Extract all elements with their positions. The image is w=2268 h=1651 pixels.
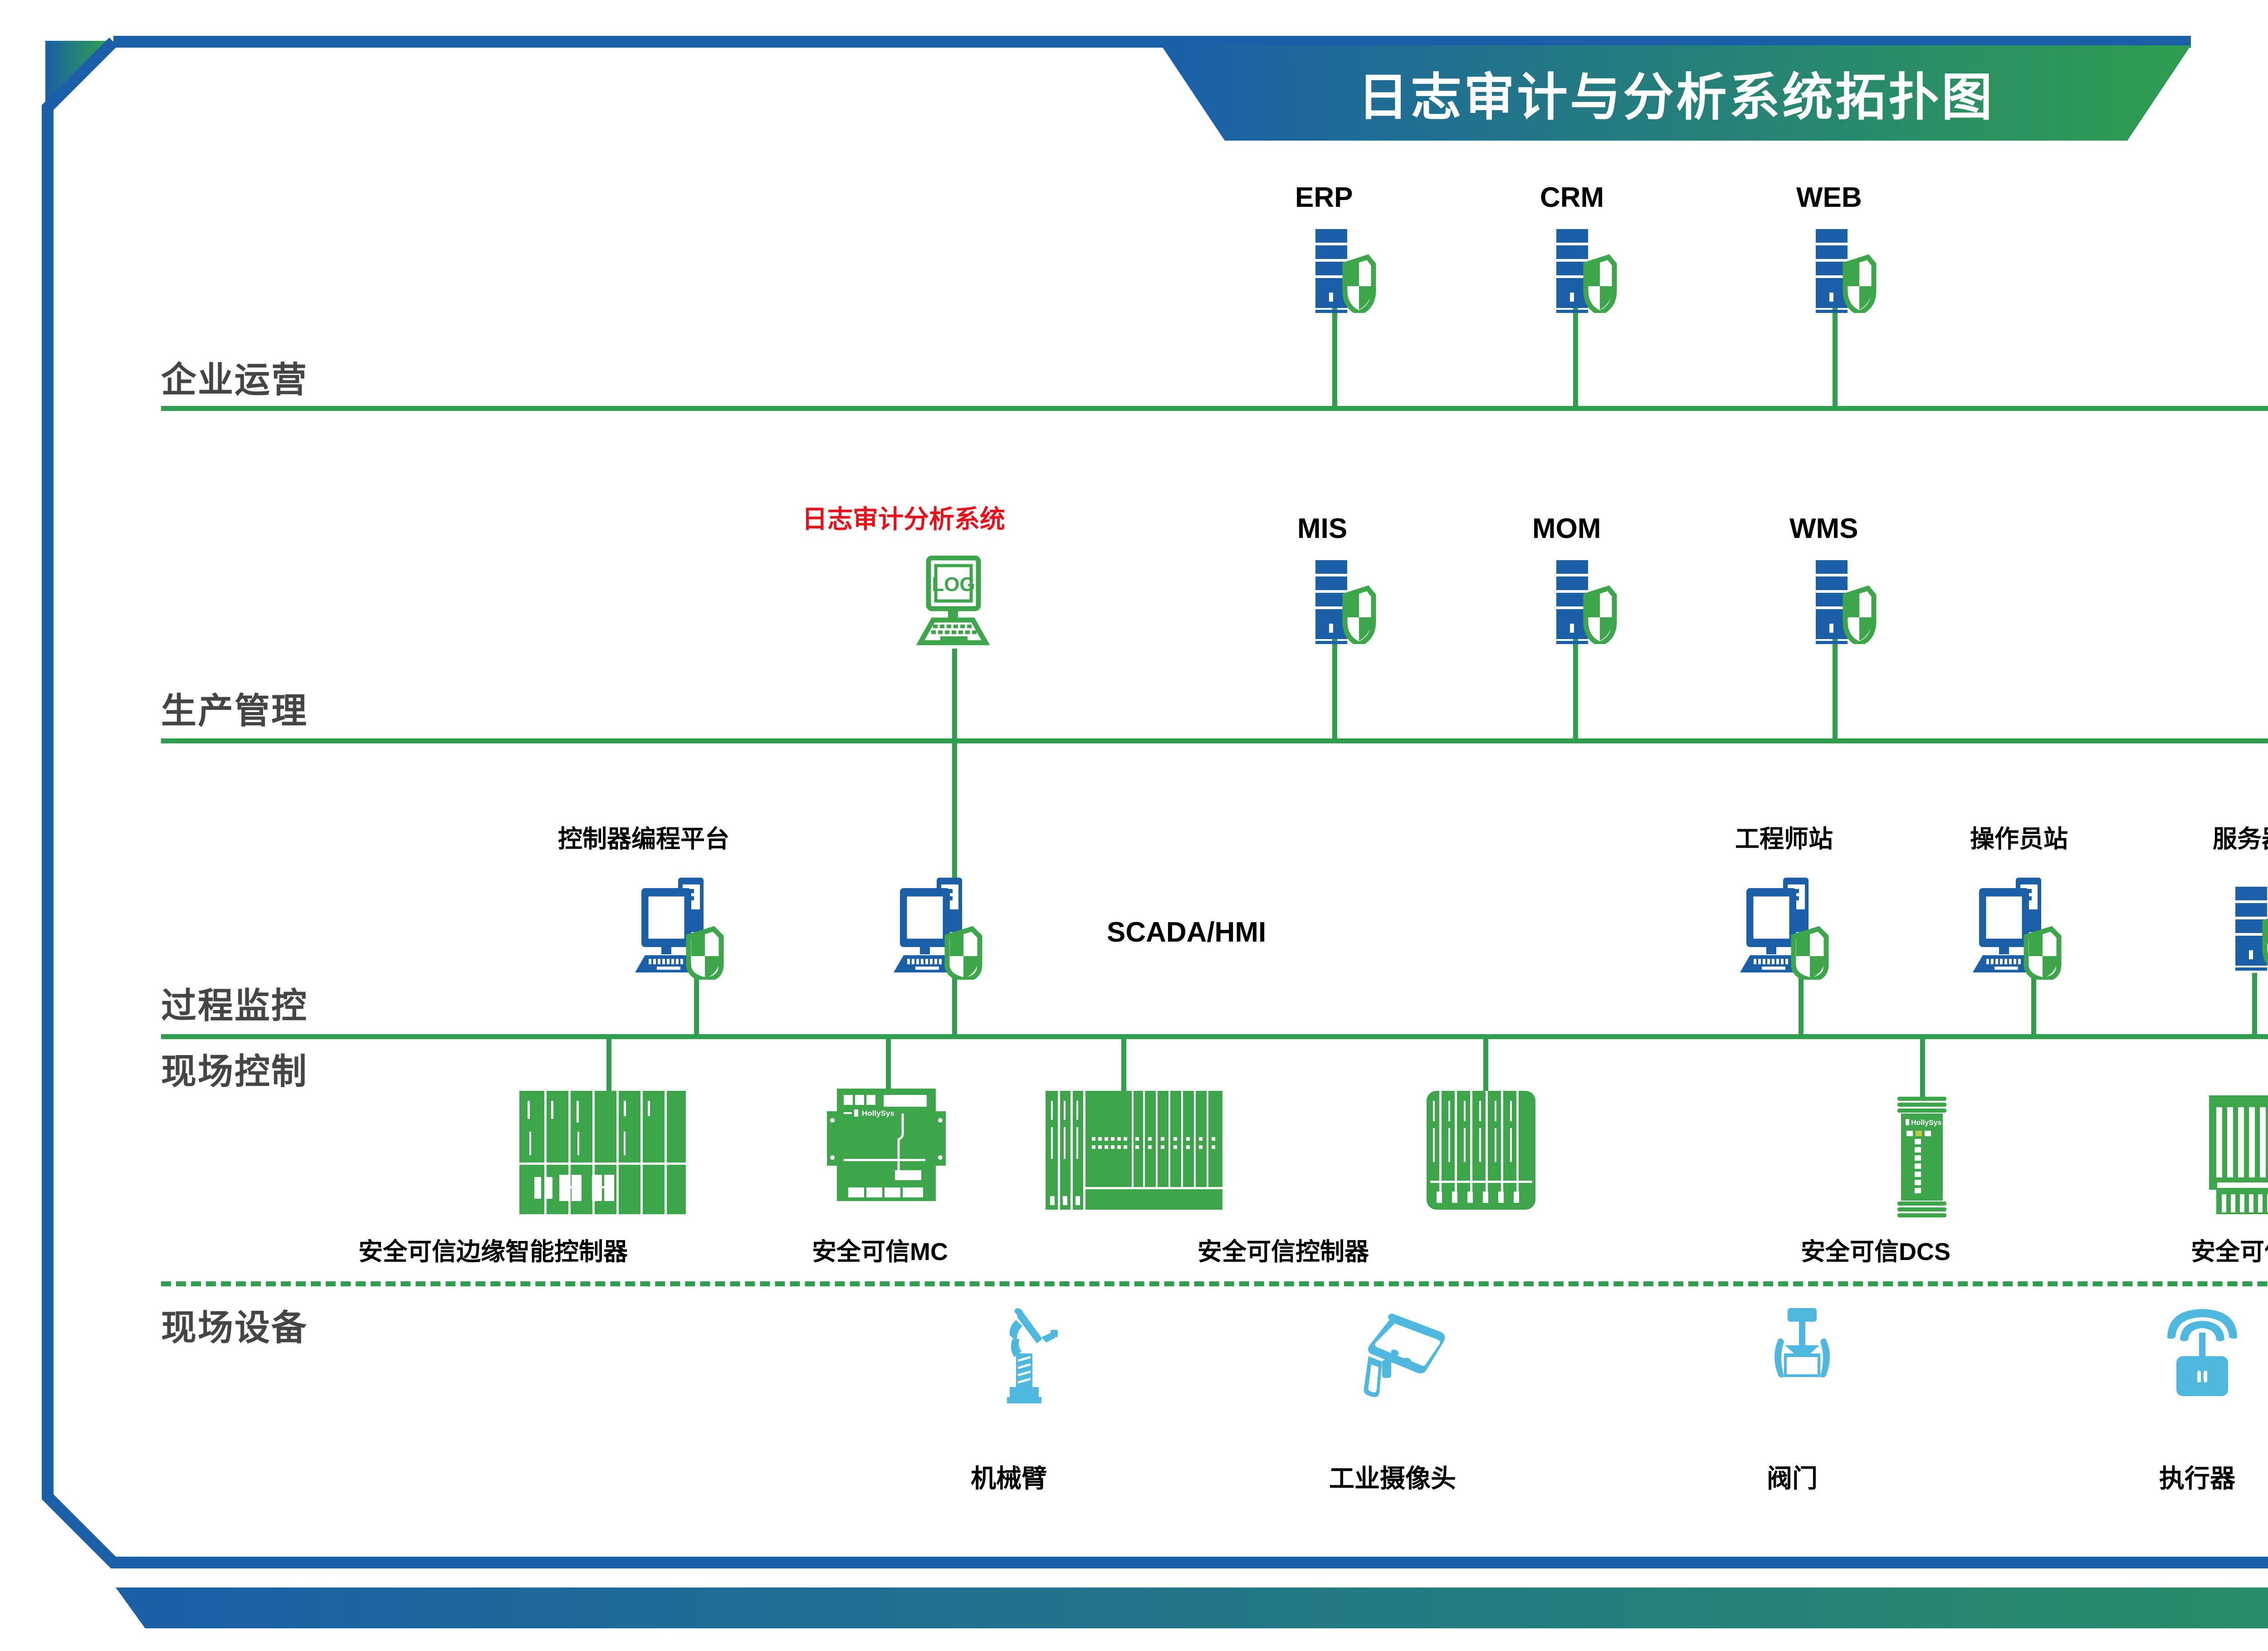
connector-edge-controller	[606, 1039, 611, 1093]
camera-icon	[1359, 1311, 1463, 1399]
label-web: WEB	[1796, 181, 1862, 214]
connector-log-system	[952, 649, 957, 739]
label-industrial-camera: 工业摄像头	[1329, 1458, 1456, 1495]
label-mom: MOM	[1532, 513, 1601, 545]
connector-controller-wide	[1121, 1039, 1126, 1093]
plc-rack-icon	[519, 1091, 696, 1216]
plc-wide-icon	[1046, 1091, 1225, 1211]
connector-mom	[1573, 635, 1578, 739]
connector-erp	[1332, 304, 1337, 408]
layer-label-field-control: 现场控制	[161, 1043, 308, 1094]
label-robot-arm: 机械臂	[971, 1458, 1047, 1495]
label-mc: 安全可信MC	[812, 1231, 948, 1267]
server-shield-icon	[1798, 229, 1888, 313]
connector-mc	[886, 1039, 891, 1093]
workstation-shield-icon	[894, 875, 1012, 980]
production-bus-line	[161, 738, 2268, 743]
mc-module-icon: HollySys	[819, 1089, 955, 1202]
connector-wms	[1833, 635, 1838, 739]
process-bus-line	[161, 1034, 2268, 1039]
enterprise-bus-line	[161, 406, 2268, 411]
label-controller-programming-platform: 控制器编程平台	[558, 819, 729, 855]
label-engineer-station: 工程师站	[1735, 819, 1833, 855]
server-shield-icon	[1798, 560, 1888, 644]
connector-web	[1833, 304, 1838, 408]
svg-text:HollySys: HollySys	[1911, 1119, 1942, 1127]
connector-engineer-station	[1799, 973, 1804, 1036]
label-crm: CRM	[1540, 181, 1604, 214]
connector-scada	[952, 973, 957, 1036]
connector-server	[2252, 973, 2257, 1036]
log-workstation-icon: LOG	[905, 556, 1000, 653]
connector-controller-programming-platform	[694, 973, 699, 1036]
topology-diagram: 日志审计与分析系统拓扑图 企业运营 ERP CRM	[0, 0, 2268, 1651]
layer-label-enterprise: 企业运营	[161, 352, 308, 402]
log-screen-text: LOG	[932, 573, 975, 596]
label-actuator: 执行器	[2159, 1458, 2235, 1495]
layer-label-process: 过程监控	[161, 977, 308, 1028]
label-dcs: 安全可信DCS	[1801, 1231, 1950, 1267]
title-banner: 日志审计与分析系统拓扑图	[1161, 45, 2191, 141]
label-operator-station: 操作员站	[1970, 819, 2068, 855]
page-title: 日志审计与分析系统拓扑图	[1161, 45, 2191, 141]
label-edge-controller: 安全可信边缘智能控制器	[358, 1231, 628, 1267]
server-shield-icon	[1297, 560, 1388, 644]
label-wms: WMS	[1789, 513, 1858, 545]
label-valve: 阀门	[1767, 1458, 1818, 1495]
plc-small-icon	[1427, 1091, 1538, 1211]
label-trusted-controller: 安全可信控制器	[1198, 1231, 1369, 1267]
workstation-shield-icon	[635, 875, 753, 980]
label-scada-hmi: SCADA/HMI	[1107, 916, 1266, 948]
label-sis: 安全可信SIS	[2191, 1231, 2268, 1267]
server-shield-icon	[1538, 229, 1629, 313]
sis-rack-icon	[2209, 1095, 2268, 1216]
server-shield-icon	[1538, 560, 1629, 644]
robot-arm-icon	[993, 1306, 1070, 1404]
label-server: 服务器	[2213, 819, 2268, 855]
label-erp: ERP	[1295, 181, 1353, 214]
server-shield-icon	[2217, 887, 2268, 971]
layer-label-field-device: 现场设备	[161, 1299, 308, 1350]
server-shield-icon	[1297, 229, 1388, 313]
valve-icon	[1758, 1306, 1846, 1397]
connector-dcs	[1920, 1039, 1925, 1100]
connector-mis	[1332, 635, 1337, 739]
connector-controller-small	[1483, 1039, 1488, 1093]
dcs-module-icon: HollySys	[1894, 1095, 1950, 1218]
decorative-frame	[0, 0, 2268, 1651]
layer-label-production: 生产管理	[161, 683, 308, 733]
label-mis: MIS	[1297, 513, 1347, 545]
connector-operator-station	[2031, 973, 2036, 1036]
label-log-system: 日志审计分析系统	[802, 499, 1005, 536]
workstation-shield-icon	[1740, 875, 1858, 980]
field-device-separator	[161, 1281, 2268, 1286]
actuator-icon	[2159, 1306, 2245, 1397]
workstation-shield-icon	[1973, 875, 2091, 980]
connector-crm	[1573, 304, 1578, 408]
svg-text:HollySys: HollySys	[862, 1109, 894, 1118]
